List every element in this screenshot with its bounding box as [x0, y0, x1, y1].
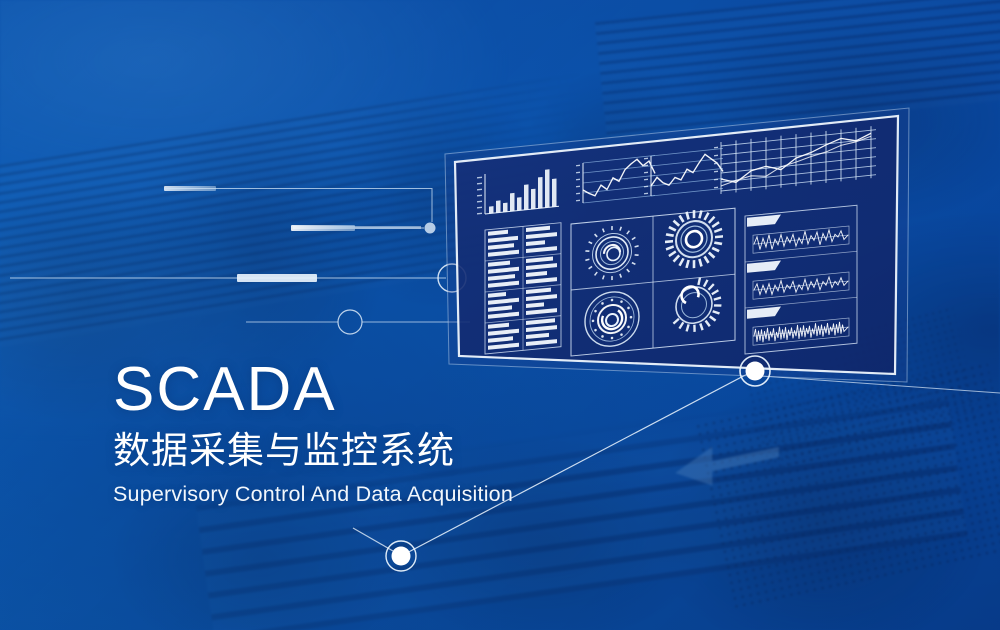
page-subtitle-cn: 数据采集与监控系统	[113, 430, 673, 473]
page-title: SCADA	[113, 358, 673, 422]
page-subtitle-en: Supervisory Control And Data Acquisition	[113, 482, 673, 507]
hero-text-block: SCADA 数据采集与监控系统 Supervisory Control And …	[113, 358, 673, 507]
hero-banner: SCADA 数据采集与监控系统 Supervisory Control And …	[0, 0, 1000, 630]
node-solid-dashboard-dot	[746, 362, 765, 381]
